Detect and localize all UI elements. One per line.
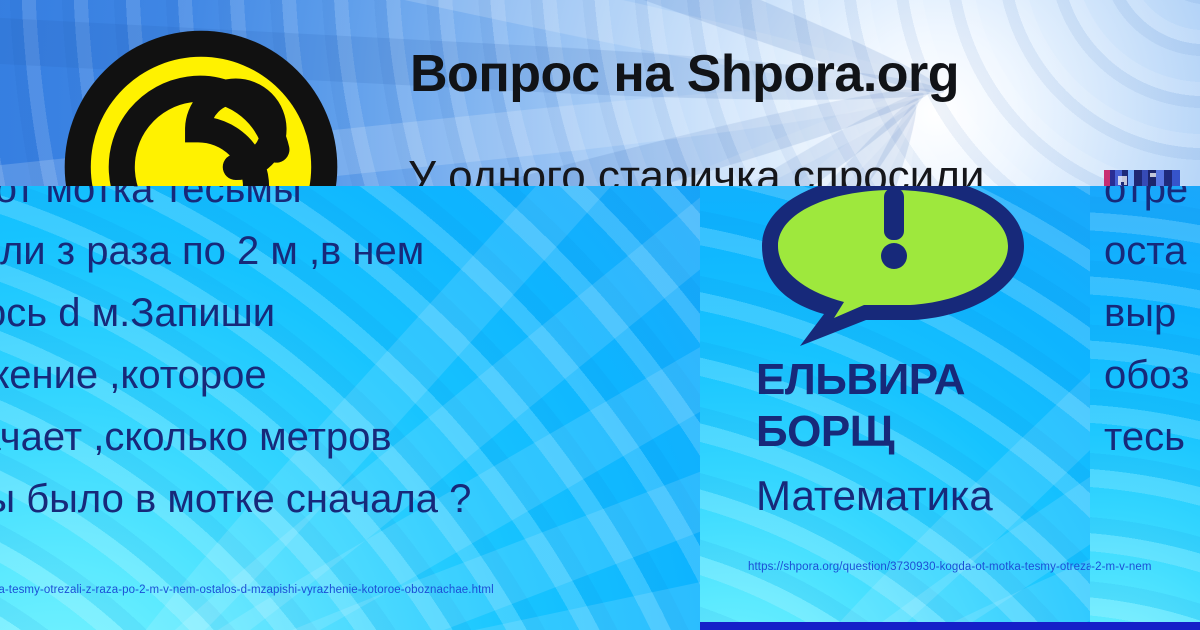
question-line: обоз — [1104, 344, 1200, 406]
question-url-center[interactable]: https://shpora.org/question/3730930-kogd… — [748, 561, 1090, 573]
question-line: да от мотка тесьмы — [0, 186, 700, 220]
question-line: тесь — [1104, 406, 1200, 468]
question-text-panel: да от мотка тесьмы езали з раза по 2 м ,… — [0, 186, 700, 630]
question-line: ьмы было в мотке сначала ? — [0, 468, 700, 530]
question-line: выр — [1104, 282, 1200, 344]
author-panel: ЕЛЬВИРА БОРЩ Математика https://shpora.o… — [700, 186, 1090, 630]
question-line: оста — [1104, 220, 1200, 282]
question-line: отре — [1104, 186, 1200, 220]
question-line: езали з раза по 2 м ,в нем — [0, 220, 700, 282]
question-url-right[interactable]: https://shpora.org/question/3730930-kogd… — [1090, 561, 1152, 573]
author-name: ЕЛЬВИРА БОРЩ — [756, 354, 1086, 458]
bottom-accent-bar — [700, 622, 1200, 630]
question-url-left[interactable]: https://shpora.org/question/3730930-kogd… — [0, 584, 494, 596]
question-body: да от мотка тесьмы езали з раза по 2 м ,… — [0, 186, 700, 530]
social-share-card: Вопрос на Shpora.org У одного старичка с… — [0, 0, 1200, 630]
page-title: Вопрос на Shpora.org — [410, 44, 959, 104]
question-line: алось d м.Запиши — [0, 282, 700, 344]
subject-label: Математика — [756, 472, 1086, 520]
question-line: значает ,сколько метров — [0, 406, 700, 468]
question-overflow-panel: отре оста выр обоз тесь https://shpora.o… — [1090, 186, 1200, 630]
exclamation-speech-bubble-icon — [748, 186, 1038, 350]
question-line: ражение ,которое — [0, 344, 700, 406]
question-overflow-body: отре оста выр обоз тесь — [1104, 186, 1200, 468]
